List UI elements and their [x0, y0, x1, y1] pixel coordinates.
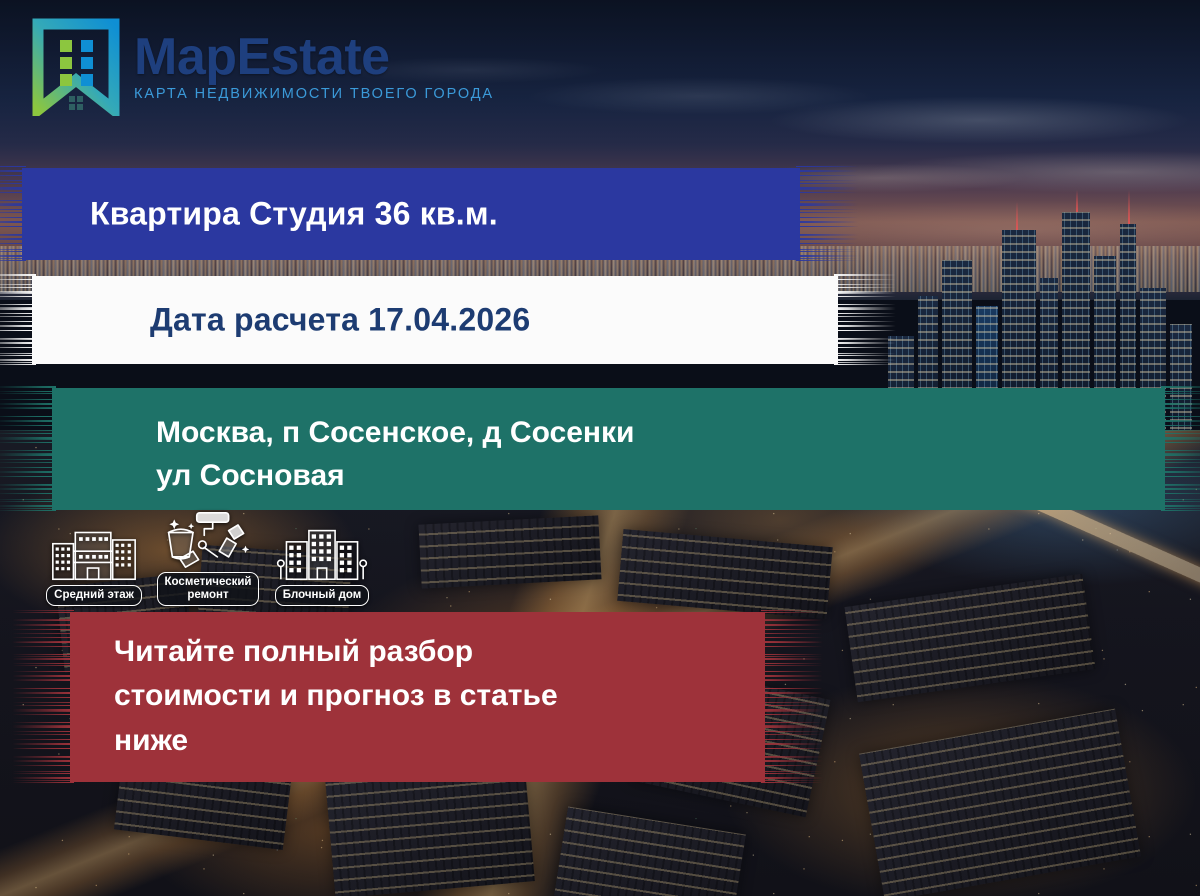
- cta-line-1: Читайте полный разбор: [114, 630, 558, 674]
- property-feature-badges: Средний этаж: [44, 516, 372, 606]
- paint-roller-brush-icon: [162, 508, 254, 570]
- cta-line-3: ниже: [114, 719, 558, 763]
- badge-label: Блочный дом: [275, 585, 370, 606]
- apartment-block-icon: [276, 521, 368, 583]
- brand-tagline: КАРТА НЕДВИЖИМОСТИ ТВОЕГО ГОРОДА: [134, 86, 494, 102]
- address-line-2: ул Сосновая: [156, 455, 634, 498]
- cta-band: Читайте полный разбор стоимости и прогно…: [70, 612, 765, 782]
- property-title-band: Квартира Студия 36 кв.м.: [22, 168, 800, 260]
- calculation-date-band: Дата расчета 17.04.2026: [32, 276, 838, 364]
- band-edge-left: [0, 165, 26, 263]
- band-edge-left: [0, 385, 56, 513]
- badge-cosmetic-renovation[interactable]: Косметический ремонт: [158, 508, 258, 606]
- cta-line-2: стоимости и прогноз в статье: [114, 674, 558, 718]
- band-edge-left: [0, 273, 36, 367]
- property-title: Квартира Студия 36 кв.м.: [90, 196, 498, 233]
- brand-logo[interactable]: MapEstate КАРТА НЕДВИЖИМОСТИ ТВОЕГО ГОРО…: [32, 18, 494, 116]
- office-building-icon: [48, 521, 140, 583]
- calculation-date: Дата расчета 17.04.2026: [150, 302, 530, 339]
- address-line-1: Москва, п Сосенское, д Сосенки: [156, 412, 634, 455]
- address-band: Москва, п Сосенское, д Сосенки ул Соснов…: [52, 388, 1165, 510]
- bookmark-building-icon: [32, 18, 120, 116]
- band-edge-right: [796, 165, 858, 263]
- badge-block-house[interactable]: Блочный дом: [272, 521, 372, 606]
- badge-middle-floor[interactable]: Средний этаж: [44, 521, 144, 606]
- badge-label: Средний этаж: [46, 585, 142, 606]
- band-edge-right: [834, 273, 896, 367]
- band-edge-right: [1161, 385, 1200, 513]
- brand-name: MapEstate: [134, 32, 494, 83]
- band-edge-left: [12, 609, 74, 785]
- band-edge-right: [761, 609, 823, 785]
- badge-label: Косметический ремонт: [157, 572, 260, 606]
